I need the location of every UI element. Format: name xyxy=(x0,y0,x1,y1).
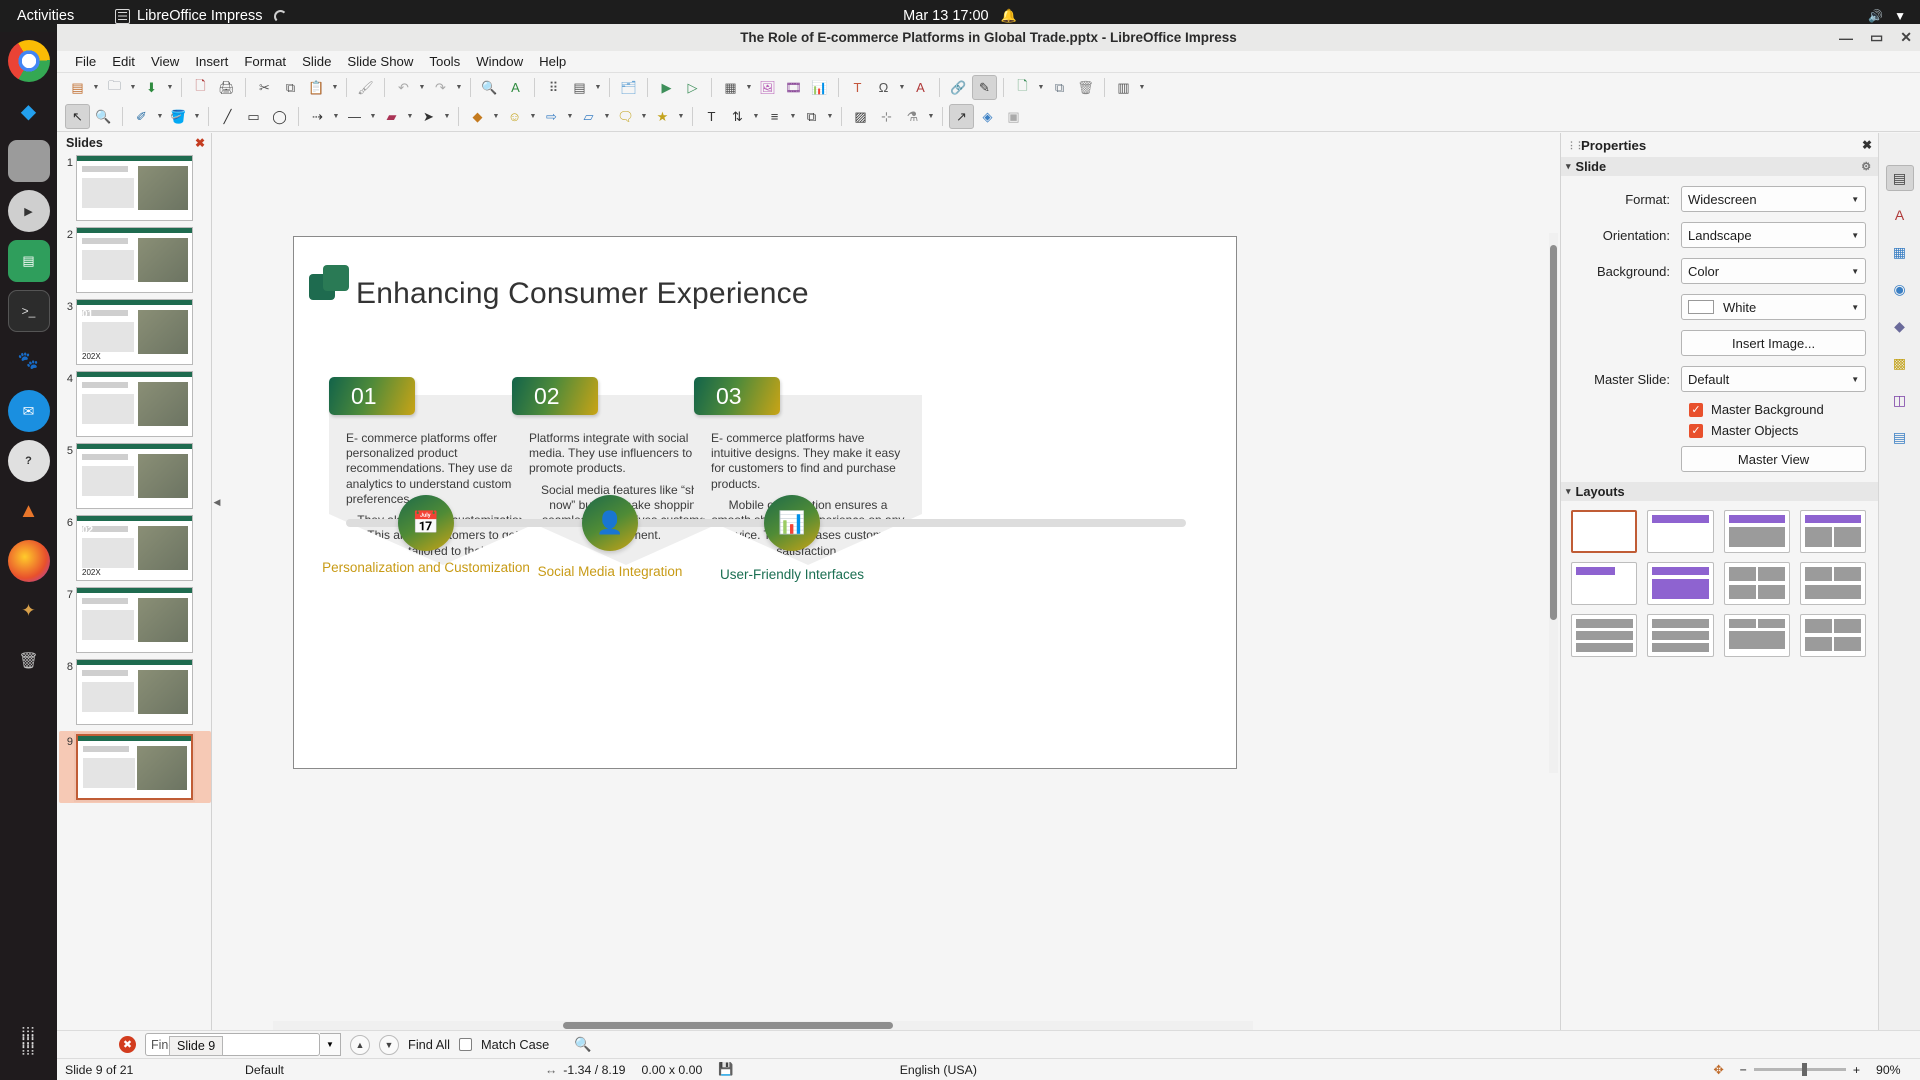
master-slide-select[interactable]: Default ▼ xyxy=(1681,366,1866,392)
workspace: Slides ✖ 12301202X45602202X789 ◀ Enhanci… xyxy=(57,133,1920,1038)
open-button[interactable]: 🗀 xyxy=(102,75,127,100)
orientation-value: Landscape xyxy=(1688,228,1752,243)
mini-image xyxy=(138,310,188,354)
card-paragraph-1: Platforms integrate with social media. T… xyxy=(529,431,723,477)
vertical-scroll-thumb[interactable] xyxy=(1550,245,1557,620)
slide-number: 4 xyxy=(61,371,73,385)
mini-block-a xyxy=(82,382,128,388)
rectangle-tool[interactable]: ▭ xyxy=(241,104,266,129)
card-badge: 01 xyxy=(329,377,415,415)
block-arrows-button[interactable]: ⇨ xyxy=(539,104,564,129)
zoom-slider[interactable]: − + xyxy=(1732,1063,1868,1077)
chevron-down-icon: ▼ xyxy=(1851,303,1859,312)
mini-block-a xyxy=(83,746,129,752)
arrow-tool[interactable]: ⇢ xyxy=(305,104,330,129)
format-select[interactable]: Widescreen ▼ xyxy=(1681,186,1866,212)
orientation-select[interactable]: Landscape ▼ xyxy=(1681,222,1866,248)
mini-block-b xyxy=(82,466,134,496)
paste-dropdown-arrow[interactable]: ▼ xyxy=(330,75,340,100)
export-pdf-button[interactable]: 🗋 xyxy=(188,75,213,100)
align-objects-dropdown-arrow[interactable]: ▼ xyxy=(788,104,798,129)
match-case-label: Match Case xyxy=(481,1037,549,1052)
layout-option-12[interactable] xyxy=(1800,614,1866,657)
master-background-label: Master Background xyxy=(1711,402,1824,417)
display-grid-button[interactable]: ⠿ xyxy=(541,75,566,100)
layout-option-11[interactable] xyxy=(1724,614,1790,657)
mini-block-a xyxy=(82,166,128,172)
insert-special-character-dropdown-arrow[interactable]: ▼ xyxy=(897,75,907,100)
slide-thumb-7[interactable]: 7 xyxy=(59,587,211,653)
slide-thumb-6[interactable]: 602202X xyxy=(59,515,211,581)
toolbar-separator xyxy=(692,107,693,126)
insert-table-dropdown-arrow[interactable]: ▼ xyxy=(744,75,754,100)
background-value: Color xyxy=(1688,264,1719,279)
show-draw-functions-button[interactable]: ✎ xyxy=(972,75,997,100)
select-tool[interactable]: ↖ xyxy=(65,104,90,129)
card-paragraph-1: E- commerce platforms offer personalized… xyxy=(346,431,540,507)
close-icon[interactable]: ✖ xyxy=(195,136,205,150)
toolbar-separator xyxy=(181,78,182,97)
fill-color-button[interactable]: 🪣 xyxy=(166,104,191,129)
slide-thumb-8[interactable]: 8 xyxy=(59,659,211,725)
status-save-indicator[interactable]: 💾 xyxy=(710,1062,741,1077)
stars-shapes-dropdown-arrow[interactable]: ▼ xyxy=(676,104,686,129)
toggle-extrusion-button[interactable]: ▣ xyxy=(1001,104,1026,129)
slide-preview[interactable] xyxy=(76,155,193,221)
layout-placeholder xyxy=(1805,567,1832,581)
timeline-node-2[interactable]: 👤 xyxy=(582,495,638,551)
dock-item-software[interactable]: ✦ xyxy=(8,590,50,632)
duplicate-slide-button[interactable]: ⧉ xyxy=(1047,75,1072,100)
chevron-down-icon: ▼ xyxy=(1851,231,1859,240)
chevron-down-icon: ▼ xyxy=(1851,195,1859,204)
find-replace-icon[interactable]: 🔍 xyxy=(574,1036,591,1053)
chevron-down-icon: ▾ xyxy=(1566,161,1571,172)
clone-formatting-button[interactable]: 🖌 xyxy=(353,75,378,100)
layout-placeholder xyxy=(1729,515,1786,523)
tab-animation[interactable]: ◫ xyxy=(1886,387,1914,413)
slide-thumb-3[interactable]: 301202X xyxy=(59,299,211,365)
slide-preview[interactable]: 01202X xyxy=(76,299,193,365)
gear-icon[interactable]: ⚙ xyxy=(1861,160,1871,173)
toolbar-separator xyxy=(1003,78,1004,97)
insert-table-button[interactable]: ▦ xyxy=(718,75,743,100)
timeline-node-1[interactable]: 📅 xyxy=(398,495,454,551)
dock-item-trash[interactable]: 🗑 xyxy=(8,640,50,682)
cut-button[interactable]: ✂ xyxy=(252,75,277,100)
dock-item-vlc[interactable]: ▲ xyxy=(8,490,50,532)
callout-shapes-dropdown-arrow[interactable]: ▼ xyxy=(639,104,649,129)
layout-option-5[interactable] xyxy=(1571,562,1637,605)
mini-block-b xyxy=(82,178,134,208)
find-previous-button[interactable]: ▲ xyxy=(350,1035,370,1055)
filter-dropdown-arrow[interactable]: ▼ xyxy=(926,104,936,129)
display-views-button[interactable]: ▤ xyxy=(567,75,592,100)
tab-styles[interactable]: A xyxy=(1886,202,1914,228)
line-width-button[interactable]: ▰ xyxy=(379,104,404,129)
toolbar-separator xyxy=(841,107,842,126)
maximize-button[interactable]: ▭ xyxy=(1870,29,1883,46)
layout-option-10[interactable] xyxy=(1647,614,1713,657)
redo-button[interactable]: ↷ xyxy=(428,75,453,100)
print-button[interactable]: 🖨 xyxy=(214,75,239,100)
save-button[interactable]: ⬇ xyxy=(139,75,164,100)
fit-slide-icon: ✥ xyxy=(1713,1063,1723,1077)
toolbar-separator xyxy=(298,107,299,126)
menu-window[interactable]: Window xyxy=(468,53,531,70)
background-select[interactable]: Color ▼ xyxy=(1681,258,1866,284)
zoom-out-button[interactable]: − xyxy=(1740,1063,1747,1077)
save-dropdown-arrow[interactable]: ▼ xyxy=(165,75,175,100)
mini-block-b xyxy=(83,758,135,788)
tab-gallery[interactable]: ▦ xyxy=(1886,239,1914,265)
insert-audio-video-button[interactable]: 🎞 xyxy=(781,75,806,100)
layout-placeholder xyxy=(1834,637,1861,651)
menu-format[interactable]: Format xyxy=(236,53,294,70)
background-color-row: White ▼ xyxy=(1571,294,1866,320)
paste-button[interactable]: 📋 xyxy=(304,75,329,100)
sidebar: ⋮⋮ Properties ✖ ▾ Slide ⚙ Format: xyxy=(1560,133,1920,1038)
zoom-knob[interactable] xyxy=(1802,1063,1807,1076)
menu-tools[interactable]: Tools xyxy=(421,53,468,70)
tab-shapes[interactable]: ◆ xyxy=(1886,313,1914,339)
zoom-track[interactable] xyxy=(1754,1068,1846,1071)
toolbar-separator xyxy=(942,107,943,126)
shadow-button[interactable]: ▨ xyxy=(848,104,873,129)
status-object-size: 0.00 x 0.00 xyxy=(634,1063,711,1077)
slide-preview[interactable] xyxy=(76,443,193,509)
line-style-button[interactable]: ― xyxy=(342,104,367,129)
slide-thumb-4[interactable]: 4 xyxy=(59,371,211,437)
mini-header xyxy=(77,588,192,593)
timeline-label-3[interactable]: User-Friendly Interfaces xyxy=(662,567,922,582)
dock-item-gimp[interactable]: 🐾 xyxy=(8,340,50,382)
slides-list[interactable]: 12301202X45602202X789 xyxy=(57,155,211,1038)
format-row: Format: Widescreen ▼ xyxy=(1571,186,1866,212)
orientation-row: Orientation: Landscape ▼ xyxy=(1571,222,1866,248)
toolbar-separator xyxy=(609,78,610,97)
flowchart-shapes-button[interactable]: ▱ xyxy=(576,104,601,129)
mini-image xyxy=(137,746,187,790)
dock-item-thunderbird[interactable]: ✉ xyxy=(8,390,50,432)
mini-badge: 02 xyxy=(82,525,93,536)
tab-navigator[interactable]: ◉ xyxy=(1886,276,1914,302)
layout-option-8[interactable] xyxy=(1800,562,1866,605)
ellipse-tool[interactable]: ◯ xyxy=(267,104,292,129)
layout-placeholder xyxy=(1576,643,1633,652)
status-language[interactable]: English (USA) xyxy=(892,1063,985,1077)
tab-slide-transition[interactable]: ▤ xyxy=(1886,424,1914,450)
start-from-first-slide-button[interactable]: ▶ xyxy=(654,75,679,100)
menu-slide-show[interactable]: Slide Show xyxy=(339,53,421,70)
layout-placeholder xyxy=(1805,637,1832,651)
drawing-toolbar: ↖🔍✐▼🪣▼╱▭◯⇢▼―▼▰▼➤▼◆▼☺▼⇨▼▱▼🗨▼★▼T⇅▼≡▼⧉▼▨⊹⚗▼… xyxy=(57,102,1920,132)
layout-placeholder xyxy=(1652,619,1709,628)
new-document-button[interactable]: ▤ xyxy=(65,75,90,100)
zoom-tool[interactable]: 🔍 xyxy=(91,104,116,129)
insert-line-tool[interactable]: ╱ xyxy=(215,104,240,129)
symbol-shapes-button[interactable]: ☺ xyxy=(502,104,527,129)
vertical-scrollbar[interactable] xyxy=(1549,233,1558,773)
dock-item-firefox[interactable] xyxy=(8,540,50,582)
callout-shapes-button[interactable]: 🗨 xyxy=(613,104,638,129)
filter-button[interactable]: ⚗ xyxy=(900,104,925,129)
layout-option-1[interactable] xyxy=(1571,510,1637,553)
delete-slide-button[interactable]: 🗑 xyxy=(1073,75,1098,100)
close-icon[interactable]: ✖ xyxy=(119,1036,136,1053)
mini-badge: 01 xyxy=(82,309,93,320)
mini-image xyxy=(138,382,188,426)
mini-image xyxy=(138,526,188,570)
spelling-button[interactable]: A xyxy=(503,75,528,100)
layout-option-2[interactable] xyxy=(1647,510,1713,553)
toolbar-separator xyxy=(470,78,471,97)
menu-slide[interactable]: Slide xyxy=(294,53,339,70)
insert-text-box-tool[interactable]: T xyxy=(699,104,724,129)
panel-collapse-handle[interactable]: ◀ xyxy=(213,491,221,513)
find-history-dropdown[interactable]: ▼ xyxy=(320,1033,341,1056)
deck-title: Properties xyxy=(1581,138,1646,153)
mini-image xyxy=(138,166,188,210)
dock-item-terminal[interactable]: >_ xyxy=(8,290,50,332)
clock-area[interactable]: Mar 13 17:00 🔔 xyxy=(0,8,1920,24)
object-size-value: 0.00 x 0.00 xyxy=(642,1063,703,1077)
status-bar: Slide 9 of 21 Default ↔ -1.34 / 8.19 0.0… xyxy=(57,1058,1920,1080)
find-all-button[interactable]: Find All xyxy=(408,1037,450,1052)
background-color-select[interactable]: White ▼ xyxy=(1681,294,1866,320)
mini-header xyxy=(77,300,192,305)
insert-vertical-text-button[interactable]: ⇅ xyxy=(725,104,750,129)
slide-preview[interactable] xyxy=(76,734,193,800)
layout-placeholder xyxy=(1805,515,1862,523)
start-from-current-slide-button[interactable]: ▷ xyxy=(680,75,705,100)
insert-hyperlink-button[interactable]: 🔗 xyxy=(946,75,971,100)
copy-button[interactable]: ⧉ xyxy=(278,75,303,100)
stars-shapes-button[interactable]: ★ xyxy=(650,104,675,129)
slide-properties-dropdown-arrow[interactable]: ▼ xyxy=(1137,75,1147,100)
slide-preview[interactable] xyxy=(76,227,193,293)
new-slide-dropdown-arrow[interactable]: ▼ xyxy=(1036,75,1046,100)
mini-block-b xyxy=(82,538,134,568)
arrow-style-dropdown-arrow[interactable]: ▼ xyxy=(442,104,452,129)
master-view-button[interactable]: Master View xyxy=(1681,446,1866,472)
calendar-icon: 📅 xyxy=(412,512,439,534)
layout-option-3[interactable] xyxy=(1724,510,1790,553)
close-icon[interactable]: ✖ xyxy=(1862,138,1872,152)
master-objects-row[interactable]: ✓ Master Objects xyxy=(1689,423,1866,438)
show-applications-button[interactable]: ⦙⦙⦙⦙⦙⦙⦙⦙⦙ xyxy=(8,1022,50,1064)
fill-color-dropdown-arrow[interactable]: ▼ xyxy=(192,104,202,129)
window-titlebar: The Role of E-commerce Platforms in Glob… xyxy=(57,24,1920,51)
close-button[interactable]: ✕ xyxy=(1900,29,1912,46)
slide-canvas[interactable]: Enhancing Consumer Experience E- commerc… xyxy=(293,236,1237,769)
volume-icon: 🔊 xyxy=(1868,9,1883,23)
dock-item-vscode[interactable]: ◆ xyxy=(8,90,50,132)
line-color-button[interactable]: ✐ xyxy=(129,104,154,129)
arrange-dropdown-arrow[interactable]: ▼ xyxy=(825,104,835,129)
zoom-level-label[interactable]: 90% xyxy=(1868,1063,1920,1077)
slide-number: 1 xyxy=(61,155,73,169)
find-next-button[interactable]: ▼ xyxy=(379,1035,399,1055)
chevron-down-icon: ▼ xyxy=(1851,375,1859,384)
layout-placeholder xyxy=(1576,567,1615,575)
mini-block-b xyxy=(82,250,134,280)
mini-header xyxy=(78,736,191,741)
layout-placeholder xyxy=(1758,585,1785,599)
dock-item-rhythmbox[interactable]: ▶ xyxy=(8,190,50,232)
slides-panel-title: Slides xyxy=(66,136,103,150)
slide-thumb-2[interactable]: 2 xyxy=(59,227,211,293)
glue-points-button[interactable]: ◈ xyxy=(975,104,1000,129)
panel-header-layouts[interactable]: ▾ Layouts xyxy=(1561,482,1878,501)
slide-preview[interactable] xyxy=(76,371,193,437)
match-case-checkbox[interactable] xyxy=(459,1038,472,1051)
status-fit-slide[interactable]: ✥ xyxy=(1705,1063,1731,1077)
background-label: Background: xyxy=(1571,264,1681,279)
mini-image xyxy=(138,670,188,714)
toolbar-separator xyxy=(122,107,123,126)
new-slide-button[interactable]: 🗋 xyxy=(1010,75,1035,100)
layout-placeholder xyxy=(1652,579,1709,599)
panel-header-slide[interactable]: ▾ Slide ⚙ xyxy=(1561,157,1878,176)
mini-header xyxy=(77,228,192,233)
system-indicators[interactable]: 🔊 ▼ xyxy=(1868,9,1906,23)
layout-placeholder xyxy=(1652,631,1709,640)
mini-year: 202X xyxy=(82,568,101,577)
mini-header xyxy=(77,444,192,449)
open-dropdown-arrow[interactable]: ▼ xyxy=(128,75,138,100)
crop-image-button[interactable]: ⊹ xyxy=(874,104,899,129)
window-controls: — ▭ ✕ xyxy=(1839,24,1912,51)
insert-image-button[interactable]: 🖼 xyxy=(755,75,780,100)
slide-preview[interactable] xyxy=(76,587,193,653)
slide-tooltip: Slide 9 xyxy=(169,1036,223,1056)
drag-grip-icon[interactable]: ⋮⋮ xyxy=(1567,142,1575,148)
dock-item-help[interactable]: ? xyxy=(8,440,50,482)
layout-placeholder xyxy=(1652,515,1709,523)
undo-button[interactable]: ↶ xyxy=(391,75,416,100)
toolbar-separator xyxy=(647,78,648,97)
toolbar-separator xyxy=(1104,78,1105,97)
bar-chart-icon: 📊 xyxy=(778,512,805,534)
points-button[interactable]: ↗ xyxy=(949,104,974,129)
layout-placeholder xyxy=(1834,527,1861,547)
find-replace-button[interactable]: 🔍 xyxy=(477,75,502,100)
layout-placeholder xyxy=(1729,527,1786,547)
align-objects-button[interactable]: ≡ xyxy=(762,104,787,129)
line-style-dropdown-arrow[interactable]: ▼ xyxy=(368,104,378,129)
new-document-dropdown-arrow[interactable]: ▼ xyxy=(91,75,101,100)
insert-special-character-button[interactable]: Ω xyxy=(871,75,896,100)
zoom-in-button[interactable]: + xyxy=(1853,1063,1860,1077)
flowchart-shapes-dropdown-arrow[interactable]: ▼ xyxy=(602,104,612,129)
master-background-row[interactable]: ✓ Master Background xyxy=(1689,402,1866,417)
standard-toolbar: ▤▼🗀▼⬇▼🗋🖨✂⧉📋▼🖌↶▼↷▼🔍A⠿▤▼🗂▶▷▦▼🖼🎞📊TΩ▼A🔗✎🗋▼⧉🗑… xyxy=(57,73,1920,102)
insert-fontwork-button[interactable]: A xyxy=(908,75,933,100)
line-width-dropdown-arrow[interactable]: ▼ xyxy=(405,104,415,129)
undo-dropdown-arrow[interactable]: ▼ xyxy=(417,75,427,100)
slide-thumb-5[interactable]: 5 xyxy=(59,443,211,509)
line-color-dropdown-arrow[interactable]: ▼ xyxy=(155,104,165,129)
horizontal-scroll-thumb[interactable] xyxy=(563,1022,893,1029)
cursor-position-value: -1.34 / 8.19 xyxy=(563,1063,625,1077)
menu-help[interactable]: Help xyxy=(531,53,574,70)
master-slide-label: Master Slide: xyxy=(1571,372,1681,387)
clock-label: Mar 13 17:00 xyxy=(903,8,988,24)
minimize-button[interactable]: — xyxy=(1839,30,1853,46)
layout-option-9[interactable] xyxy=(1571,614,1637,657)
layout-option-4[interactable] xyxy=(1800,510,1866,553)
tab-master-slides[interactable]: ▩ xyxy=(1886,350,1914,376)
window-title: The Role of E-commerce Platforms in Glob… xyxy=(740,30,1237,45)
menu-view[interactable]: View xyxy=(143,53,187,70)
status-slide-info: Slide 9 of 21 xyxy=(57,1063,237,1077)
mini-block-a xyxy=(82,454,128,460)
block-arrows-dropdown-arrow[interactable]: ▼ xyxy=(565,104,575,129)
slide-thumb-1[interactable]: 1 xyxy=(59,155,211,221)
slide-preview[interactable]: 02202X xyxy=(76,515,193,581)
arrange-button[interactable]: ⧉ xyxy=(799,104,824,129)
layout-placeholder xyxy=(1729,585,1756,599)
symbol-shapes-dropdown-arrow[interactable]: ▼ xyxy=(528,104,538,129)
master-objects-checkbox[interactable]: ✓ xyxy=(1689,424,1703,438)
insert-image-button[interactable]: Insert Image... xyxy=(1681,330,1866,356)
panel-title-slide: Slide xyxy=(1576,159,1607,174)
basic-shapes-button[interactable]: ◆ xyxy=(465,104,490,129)
tab-properties[interactable]: ▤ xyxy=(1886,165,1914,191)
arrow-tool-dropdown-arrow[interactable]: ▼ xyxy=(331,104,341,129)
menu-edit[interactable]: Edit xyxy=(104,53,143,70)
sidebar-tab-rail: ▤ A ▦ ◉ ◆ ▩ ◫ ▤ xyxy=(1878,133,1920,1038)
dock-item-files[interactable] xyxy=(8,140,50,182)
timeline-node-3[interactable]: 📊 xyxy=(764,495,820,551)
redo-dropdown-arrow[interactable]: ▼ xyxy=(454,75,464,100)
menu-file[interactable]: File xyxy=(67,53,104,70)
layout-placeholder xyxy=(1805,585,1862,599)
layout-placeholder xyxy=(1729,619,1756,628)
insert-image-row: Insert Image... xyxy=(1571,330,1866,356)
layout-placeholder xyxy=(1834,567,1861,581)
layout-option-6[interactable] xyxy=(1647,562,1713,605)
mini-image xyxy=(138,454,188,498)
slide-number: 2 xyxy=(61,227,73,241)
slide-preview[interactable] xyxy=(76,659,193,725)
slide-thumb-9[interactable]: 9 xyxy=(59,731,211,803)
layout-placeholder xyxy=(1576,631,1633,640)
slide-edit-area: ◀ Enhancing Consumer Experience E- comme… xyxy=(213,133,1560,1038)
basic-shapes-dropdown-arrow[interactable]: ▼ xyxy=(491,104,501,129)
insert-text-box-button[interactable]: T xyxy=(845,75,870,100)
layout-option-7[interactable] xyxy=(1724,562,1790,605)
horizontal-scrollbar[interactable] xyxy=(273,1021,1253,1030)
slide-number: 8 xyxy=(61,659,73,673)
dock-item-google-chrome[interactable] xyxy=(8,40,50,82)
arrow-style-button[interactable]: ➤ xyxy=(416,104,441,129)
mini-block-b xyxy=(82,682,134,712)
master-slide-row: Master Slide: Default ▼ xyxy=(1571,366,1866,392)
master-objects-label: Master Objects xyxy=(1711,423,1798,438)
master-slide-button[interactable]: 🗂 xyxy=(616,75,641,100)
slide-properties-button[interactable]: ▥ xyxy=(1111,75,1136,100)
menu-insert[interactable]: Insert xyxy=(187,53,236,70)
insert-chart-button[interactable]: 📊 xyxy=(807,75,832,100)
display-views-dropdown-arrow[interactable]: ▼ xyxy=(593,75,603,100)
master-background-checkbox[interactable]: ✓ xyxy=(1689,403,1703,417)
insert-vertical-text-dropdown-arrow[interactable]: ▼ xyxy=(751,104,761,129)
dock-item-libreoffice-calc[interactable]: ▤ xyxy=(8,240,50,282)
format-value: Widescreen xyxy=(1688,192,1757,207)
mini-header xyxy=(77,156,192,161)
